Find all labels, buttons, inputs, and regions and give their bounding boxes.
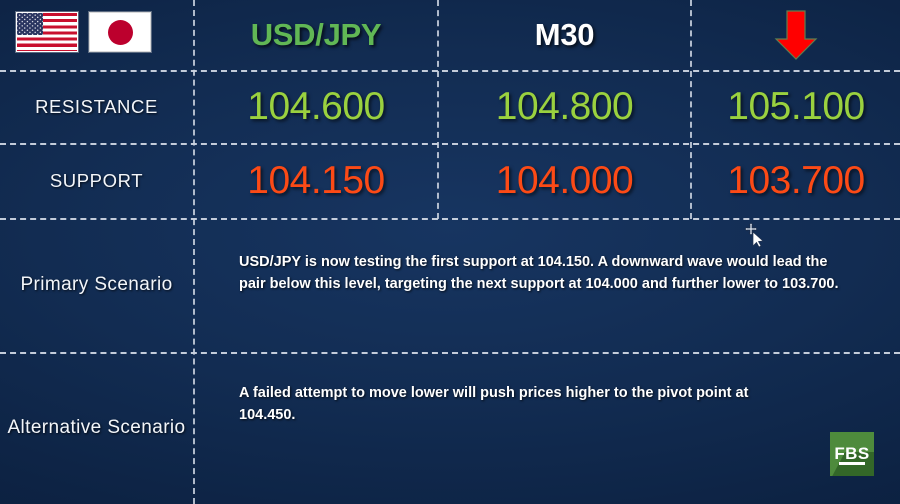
flag-japan-icon [89,12,151,52]
alternative-scenario-label: Alternative Scenario [7,416,185,440]
primary-scenario-label: Primary Scenario [20,273,172,297]
forex-analysis-board: USD/JPY M30 RESISTANCE 104.600 104.800 1… [0,0,900,504]
arrow-down-icon [770,9,822,61]
resistance-value-3: 105.100 [727,85,864,129]
alternative-scenario-text: A failed attempt to move lower will push… [239,382,784,426]
support-value-3-cell: 103.700 [692,144,900,218]
primary-scenario-text: USD/JPY is now testing the first support… [239,251,849,295]
alternative-scenario-label-cell: Alternative Scenario [0,353,193,504]
timeframe-label: M30 [535,17,594,53]
alternative-scenario-text-cell: A failed attempt to move lower will push… [195,353,900,504]
support-value-2: 104.000 [496,159,633,203]
resistance-value-1-cell: 104.600 [195,71,437,143]
fbs-logo-underline [839,462,865,465]
support-label: SUPPORT [50,169,143,193]
support-label-cell: SUPPORT [0,144,193,218]
fbs-logo-text: FBS [834,445,869,462]
fbs-logo: FBS [830,432,874,476]
resistance-value-3-cell: 105.100 [692,71,900,143]
support-value-1-cell: 104.150 [195,144,437,218]
resistance-value-2: 104.800 [496,85,633,129]
primary-scenario-text-cell: USD/JPY is now testing the first support… [195,219,900,352]
support-value-3: 103.700 [727,159,864,203]
primary-scenario-label-cell: Primary Scenario [0,219,193,352]
timeframe-cell: M30 [439,0,690,70]
support-value-1: 104.150 [247,159,384,203]
trend-direction-cell [692,0,900,70]
resistance-label: RESISTANCE [35,95,158,119]
resistance-value-1: 104.600 [247,85,384,129]
resistance-value-2-cell: 104.800 [439,71,690,143]
flag-united-states-icon [16,12,78,52]
support-value-2-cell: 104.000 [439,144,690,218]
currency-pair-label: USD/JPY [251,17,382,53]
japan-flag-sun [108,20,133,45]
pair-title-cell: USD/JPY [195,0,437,70]
currency-pair-flags [16,12,151,52]
move-cursor-icon [744,222,766,248]
us-flag-canton [17,13,43,35]
resistance-label-cell: RESISTANCE [0,71,193,143]
